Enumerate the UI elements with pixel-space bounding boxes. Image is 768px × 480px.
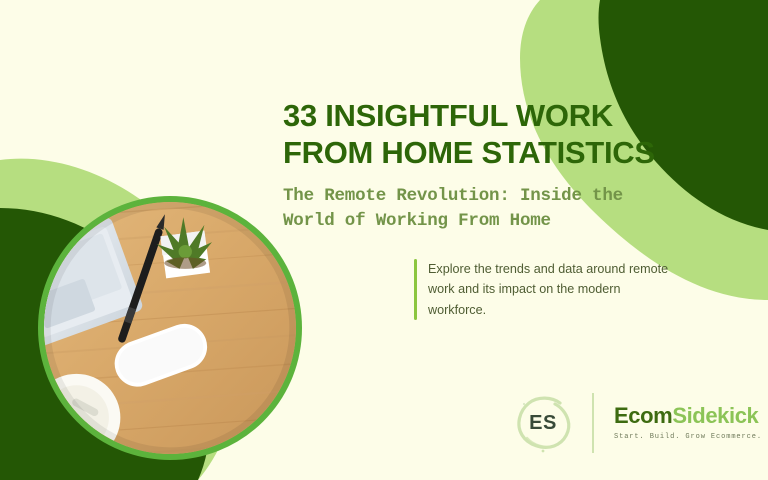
- headline-line-1: 33 INSIGHTFUL WORK: [283, 98, 683, 135]
- subheadline-line-1: The Remote Revolution: Inside the: [283, 184, 683, 209]
- brand-tagline: Start. Build. Grow Ecommerce.: [614, 433, 762, 441]
- description-text: Explore the trends and data around remot…: [428, 259, 674, 320]
- logo-monogram-text: ES: [529, 412, 557, 435]
- headline-line-2: FROM HOME STATISTICS: [283, 135, 683, 172]
- page-title: 33 INSIGHTFUL WORK FROM HOME STATISTICS: [283, 98, 683, 171]
- accent-bar: [414, 259, 417, 320]
- logo-wordmark: EcomSidekick Start. Build. Grow Ecommerc…: [612, 405, 762, 441]
- banner-canvas: 33 INSIGHTFUL WORK FROM HOME STATISTICS …: [0, 0, 768, 480]
- logo-monogram-mark: ES: [512, 392, 574, 454]
- description-block: Explore the trends and data around remot…: [414, 259, 674, 320]
- text-block: 33 INSIGHTFUL WORK FROM HOME STATISTICS …: [283, 98, 683, 234]
- brand-logo: ES EcomSidekick Start. Build. Grow Ecomm…: [512, 392, 762, 454]
- logo-divider: [592, 393, 594, 453]
- page-subtitle: The Remote Revolution: Inside the World …: [283, 184, 683, 234]
- brand-name-part1: Ecom: [614, 403, 672, 428]
- brand-name: EcomSidekick: [614, 405, 762, 427]
- brand-name-part2: Sidekick: [672, 403, 758, 428]
- subheadline-line-2: World of Working From Home: [283, 209, 683, 234]
- desk-photo-illustration: [44, 202, 296, 454]
- hero-photo: [38, 196, 302, 460]
